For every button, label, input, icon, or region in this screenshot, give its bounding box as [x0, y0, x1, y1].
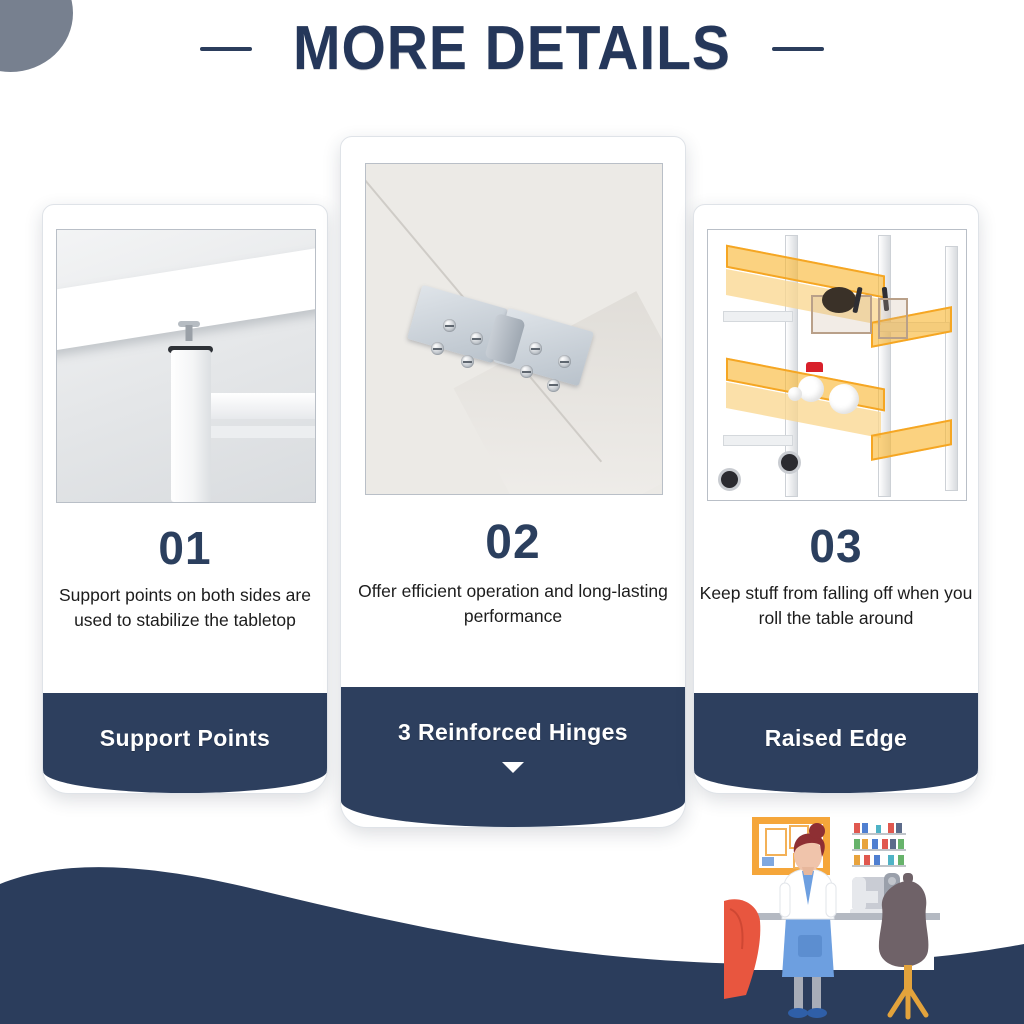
- card-1-caption: Support points on both sides are used to…: [43, 571, 327, 634]
- card-3-spacer: [694, 632, 978, 693]
- card-1-label-band: Support Points: [43, 693, 327, 793]
- card-1-photo-wrap: [43, 205, 327, 503]
- card-3-caption: Keep stuff from falling off when you rol…: [694, 569, 978, 632]
- raised-edge-cart-photo: [707, 229, 967, 501]
- card-2-number: 02: [341, 519, 685, 567]
- card-1-label: Support Points: [100, 725, 270, 752]
- sewing-room-illustration: [724, 809, 1024, 1024]
- card-2-label: 3 Reinforced Hinges: [398, 719, 628, 746]
- card-3-photo-wrap: [694, 205, 978, 501]
- card-3-label-band: Raised Edge: [694, 693, 978, 793]
- feature-card-1[interactable]: 01 Support points on both sides are used…: [42, 204, 328, 794]
- card-1-spacer: [43, 634, 327, 693]
- feature-card-2[interactable]: 02 Offer efficient operation and long-la…: [340, 136, 686, 828]
- card-3-label: Raised Edge: [765, 725, 907, 752]
- card-2-caption: Offer efficient operation and long-lasti…: [341, 567, 685, 630]
- feature-card-3[interactable]: 03 Keep stuff from falling off when you …: [693, 204, 979, 794]
- card-2-label-band: 3 Reinforced Hinges: [341, 687, 685, 827]
- card-3-number: 03: [694, 523, 978, 569]
- hinge-photo: [365, 163, 663, 495]
- card-2-spacer: [341, 630, 685, 687]
- infographic-stage: MORE DETAILS 01 Support points on both s…: [0, 0, 1024, 1024]
- chevron-down-icon[interactable]: [502, 762, 524, 773]
- card-1-number: 01: [43, 525, 327, 571]
- support-point-photo: [56, 229, 316, 503]
- card-2-photo-wrap: [341, 137, 685, 495]
